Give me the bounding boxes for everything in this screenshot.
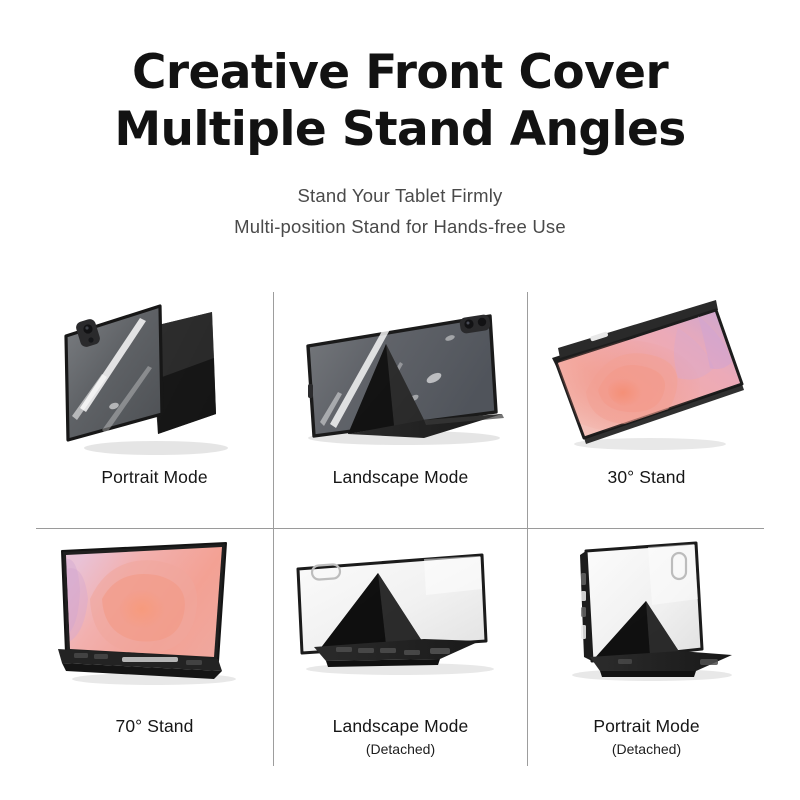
caption-label: 70° Stand	[36, 715, 273, 737]
stand-modes-grid: Portrait Mode	[36, 288, 764, 768]
headline-line-2: Multiple Stand Angles	[0, 101, 800, 158]
illustration-cover-portrait-detached	[528, 529, 765, 707]
caption-label: Portrait Mode	[36, 466, 273, 488]
grid-cell-landscape-mode-detached: Landscape Mode (Detached)	[274, 529, 527, 769]
caption-70-degree-stand: 70° Stand	[36, 715, 273, 737]
page-title: Creative Front Cover Multiple Stand Angl…	[0, 44, 800, 158]
product-image-landscape-mode	[274, 288, 527, 466]
grid-cell-70-degree-stand: 70° Stand	[36, 529, 273, 769]
header: Creative Front Cover Multiple Stand Angl…	[0, 44, 800, 242]
grid-cell-30-degree-stand: 30° Stand	[528, 288, 765, 528]
subtitle-line-2: Multi-position Stand for Hands-free Use	[0, 211, 800, 242]
caption-sublabel: (Detached)	[274, 739, 527, 759]
grid-cell-portrait-mode-detached: Portrait Mode (Detached)	[528, 529, 765, 769]
caption-label: Landscape Mode	[274, 466, 527, 488]
grid-cell-landscape-mode: Landscape Mode	[274, 288, 527, 528]
caption-label: Portrait Mode	[528, 715, 765, 737]
product-image-portrait-mode	[36, 288, 273, 466]
illustration-tablet-70-degree	[36, 529, 273, 707]
product-image-landscape-mode-detached	[274, 529, 527, 707]
subtitle-block: Stand Your Tablet Firmly Multi-position …	[0, 180, 800, 242]
illustration-tablet-landscape-stand	[274, 288, 527, 466]
caption-30-degree-stand: 30° Stand	[528, 466, 765, 488]
caption-portrait-mode: Portrait Mode	[36, 466, 273, 488]
product-image-30-degree-stand	[528, 288, 765, 466]
caption-sublabel: (Detached)	[528, 739, 765, 759]
product-image-70-degree-stand	[36, 529, 273, 707]
illustration-tablet-30-degree	[528, 288, 765, 466]
headline-line-1: Creative Front Cover	[0, 44, 800, 101]
caption-label: Landscape Mode	[274, 715, 527, 737]
infographic-page: Creative Front Cover Multiple Stand Angl…	[0, 0, 800, 800]
caption-landscape-mode: Landscape Mode	[274, 466, 527, 488]
caption-portrait-mode-detached: Portrait Mode (Detached)	[528, 715, 765, 759]
product-image-portrait-mode-detached	[528, 529, 765, 707]
grid-cell-portrait-mode: Portrait Mode	[36, 288, 273, 528]
illustration-cover-landscape-detached	[274, 529, 527, 707]
illustration-tablet-portrait-stand	[36, 288, 273, 466]
caption-landscape-mode-detached: Landscape Mode (Detached)	[274, 715, 527, 759]
caption-label: 30° Stand	[528, 466, 765, 488]
subtitle-line-1: Stand Your Tablet Firmly	[0, 180, 800, 211]
